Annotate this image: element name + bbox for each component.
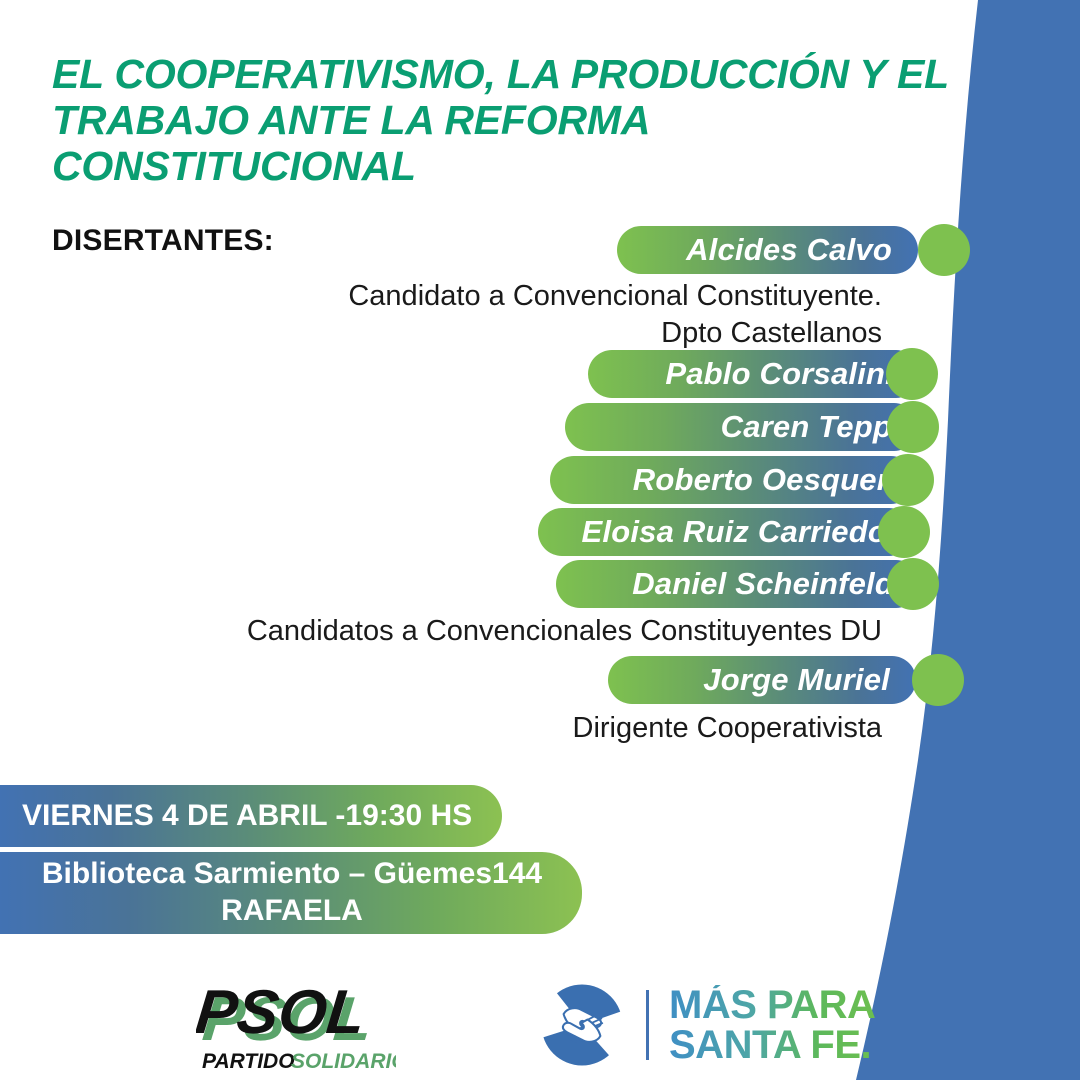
svg-text:PSOL: PSOL	[196, 978, 368, 1047]
speaker-role-jorge-muriel: Dirigente Cooperativista	[300, 710, 882, 747]
speakers-section-label: DISERTANTES:	[52, 224, 274, 258]
event-datetime-text: VIERNES 4 DE ABRIL -19:30 HS	[22, 798, 472, 835]
speakers-group-role: Candidatos a Convencionales Constituyent…	[140, 613, 882, 650]
speaker-dot-icon	[887, 558, 939, 610]
speaker-name: Caren Tepp	[721, 409, 892, 445]
speaker-dot-icon	[887, 401, 939, 453]
psol-logo: PSOL PSOL PARTIDO SOLIDARIO	[196, 978, 396, 1074]
speaker-dot-icon	[882, 454, 934, 506]
speaker-name: Daniel Scheinfeld	[632, 566, 894, 602]
speaker-role-alcides-calvo: Candidato a Convencional Constituyente. …	[300, 278, 882, 352]
speaker-row-jorge-muriel: Jorge Muriel	[608, 656, 972, 704]
speaker-name: Alcides Calvo	[686, 232, 892, 268]
psol-logo-mark: PSOL PSOL PARTIDO SOLIDARIO	[196, 978, 396, 1074]
speaker-pill: Caren Tepp	[565, 403, 918, 451]
event-venue-text: Biblioteca Sarmiento – Güemes144 RAFAELA	[22, 856, 562, 929]
speaker-name: Jorge Muriel	[703, 662, 890, 698]
speaker-row-alcides-calvo: Alcides Calvo	[617, 226, 970, 274]
speaker-dot-icon	[918, 224, 970, 276]
event-venue-banner: Biblioteca Sarmiento – Güemes144 RAFAELA	[0, 852, 582, 934]
speaker-row-caren-tepp: Caren Tepp	[565, 403, 950, 451]
psol-sub-solidario: SOLIDARIO	[291, 1050, 396, 1073]
speaker-name: Roberto Oesquer	[633, 462, 889, 498]
page-title: EL COOPERATIVISMO, LA PRODUCCIÓN Y EL TR…	[52, 52, 952, 190]
mas-para-santa-fe-logo: MÁS PARA SANTA FE.	[536, 975, 916, 1075]
speaker-name: Pablo Corsalini	[665, 356, 894, 392]
handshake-icon	[536, 979, 628, 1071]
msf-wordmark: MÁS PARA SANTA FE.	[669, 985, 875, 1065]
speaker-dot-icon	[886, 348, 938, 400]
speaker-name: Eloisa Ruiz Carriedo	[582, 514, 887, 550]
speaker-dot-icon	[878, 506, 930, 558]
speaker-pill: Alcides Calvo	[617, 226, 918, 274]
logo-divider	[646, 990, 649, 1060]
speaker-row-daniel-scheinfeld: Daniel Scheinfeld	[556, 560, 952, 608]
speaker-pill: Pablo Corsalini	[588, 350, 920, 398]
event-poster: EL COOPERATIVISMO, LA PRODUCCIÓN Y EL TR…	[0, 0, 1080, 1080]
speaker-row-roberto-oesquer: Roberto Oesquer	[550, 456, 948, 504]
speaker-pill: Eloisa Ruiz Carriedo	[538, 508, 913, 556]
speaker-pill: Roberto Oesquer	[550, 456, 915, 504]
event-datetime-banner: VIERNES 4 DE ABRIL -19:30 HS	[0, 785, 502, 847]
speaker-pill: Jorge Muriel	[608, 656, 916, 704]
speaker-dot-icon	[912, 654, 964, 706]
speaker-row-eloisa-ruiz-carriedo: Eloisa Ruiz Carriedo	[538, 508, 950, 556]
psol-sub-partido: PARTIDO	[202, 1050, 295, 1073]
speaker-row-pablo-corsalini: Pablo Corsalini	[588, 350, 950, 398]
speaker-pill: Daniel Scheinfeld	[556, 560, 920, 608]
